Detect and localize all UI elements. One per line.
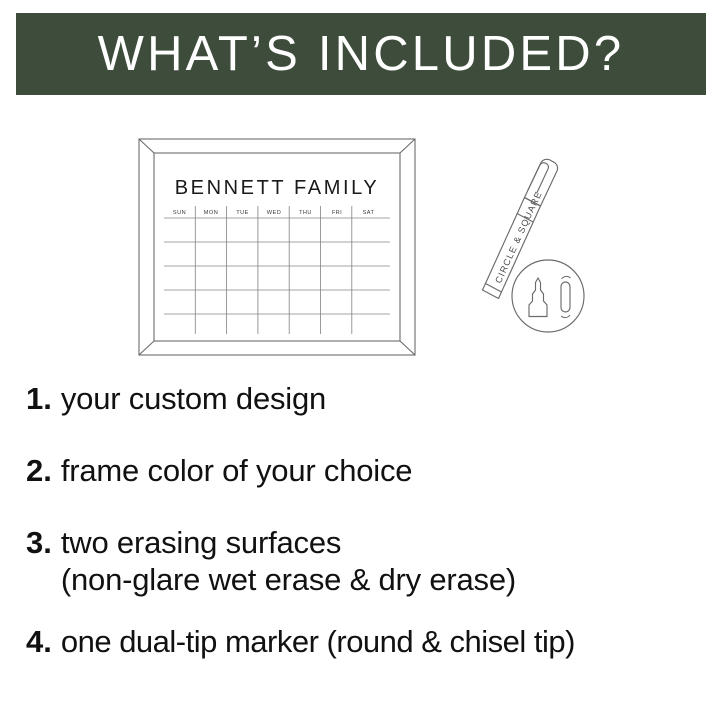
day-label-thu: THU	[299, 210, 312, 216]
chisel-tip-glyph	[561, 282, 570, 312]
header-banner: WHAT’S INCLUDED?	[16, 13, 706, 95]
day-label-tue: TUE	[236, 210, 249, 216]
included-features-list: 1. your custom design 2. frame color of …	[0, 380, 720, 661]
marker-svg: CIRCLE & SQUARE	[470, 156, 600, 356]
day-label-wed: WED	[267, 210, 281, 216]
calendar-svg: BENNETT FAMILY SUN MON TUE WED THU FRI S…	[138, 138, 416, 356]
list-item-number: 1.	[26, 380, 52, 418]
list-item-text: one dual-tip marker (round & chisel tip)	[61, 623, 575, 661]
frame-outer	[139, 139, 415, 355]
marker-illustration: CIRCLE & SQUARE	[470, 156, 600, 356]
frame-miter-tl	[139, 139, 154, 153]
day-label-sun: SUN	[173, 210, 186, 216]
list-item-text: two erasing surfaces (non-glare wet eras…	[61, 524, 516, 600]
list-item-number: 4.	[26, 623, 52, 661]
calendar-illustration: BENNETT FAMILY SUN MON TUE WED THU FRI S…	[138, 138, 416, 356]
callout-circle	[512, 260, 584, 332]
frame-miter-tr	[400, 139, 415, 153]
rotation-arc-bottom	[561, 315, 570, 318]
list-item: 2. frame color of your choice	[0, 452, 720, 490]
list-item-text: frame color of your choice	[61, 452, 412, 490]
tip-detail-callout	[512, 260, 584, 332]
day-header-row: SUN MON TUE WED THU FRI SAT	[173, 210, 375, 216]
illustration-row: BENNETT FAMILY SUN MON TUE WED THU FRI S…	[0, 108, 720, 370]
frame-miter-bl	[139, 341, 154, 355]
list-item-number: 2.	[26, 452, 52, 490]
calendar-grid	[164, 206, 390, 334]
frame-miter-br	[400, 341, 415, 355]
list-item-text-line2: (non-glare wet erase & dry erase)	[61, 561, 516, 599]
day-label-mon: MON	[204, 210, 218, 216]
marker-barrel-end	[486, 284, 502, 293]
list-item: 3. two erasing surfaces (non-glare wet e…	[0, 524, 720, 600]
day-label-fri: FRI	[332, 210, 342, 216]
list-item-text: your custom design	[61, 380, 326, 418]
list-item-text-line1: two erasing surfaces	[61, 525, 341, 560]
list-item-number: 3.	[26, 524, 52, 562]
marker-body-label: CIRCLE & SQUARE	[493, 189, 544, 284]
page-title: WHAT’S INCLUDED?	[98, 30, 625, 79]
list-item: 4. one dual-tip marker (round & chisel t…	[0, 623, 720, 661]
board-title: BENNETT FAMILY	[175, 177, 380, 199]
round-tip-glyph	[529, 278, 547, 317]
day-label-sat: SAT	[363, 210, 375, 216]
list-item: 1. your custom design	[0, 380, 720, 418]
rotation-arc-top	[562, 276, 571, 279]
